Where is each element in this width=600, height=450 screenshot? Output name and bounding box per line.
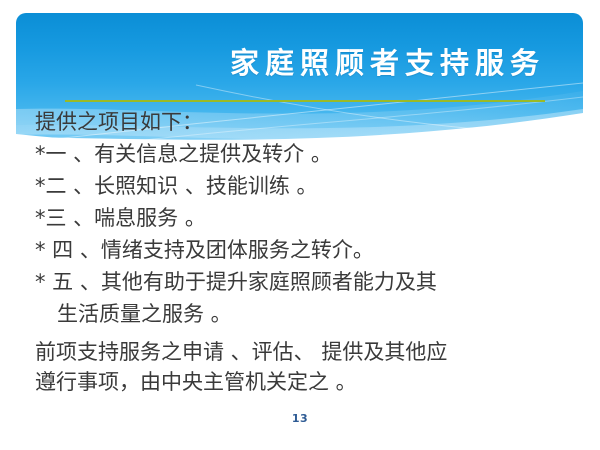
body-list-item: * 四 、情绪支持及团体服务之转介。 [35, 234, 555, 266]
slide-body: 提供之项目如下： *一 、有关信息之提供及转介 。 *二 、长照知识 、技能训练… [35, 106, 555, 397]
body-paragraph: 前项支持服务之申请 、评估、 提供及其他应 遵行事项，由中央主管机关定之 。 [35, 337, 555, 397]
presentation-slide: 家庭照顾者支持服务 提供之项目如下： *一 、有关信息之提供及转介 。 *二 、… [0, 0, 600, 450]
body-list-item: *二 、长照知识 、技能训练 。 [35, 170, 555, 202]
body-list-item-wrapped-first: * 五 、其他有助于提升家庭照顾者能力及其 [35, 266, 555, 298]
slide-page-number: 13 [0, 412, 600, 425]
body-intro-line: 提供之项目如下： [35, 106, 555, 138]
body-list-item-wrapped-second: 生活质量之服务 。 [35, 298, 555, 330]
page-title: 家庭照顾者支持服务 [40, 44, 545, 82]
title-accent-rule [65, 100, 545, 102]
paragraph-line: 遵行事项，由中央主管机关定之 。 [35, 367, 555, 397]
body-list-item: *一 、有关信息之提供及转介 。 [35, 138, 555, 170]
body-list-item: *三 、喘息服务 。 [35, 202, 555, 234]
paragraph-line: 前项支持服务之申请 、评估、 提供及其他应 [35, 337, 555, 367]
